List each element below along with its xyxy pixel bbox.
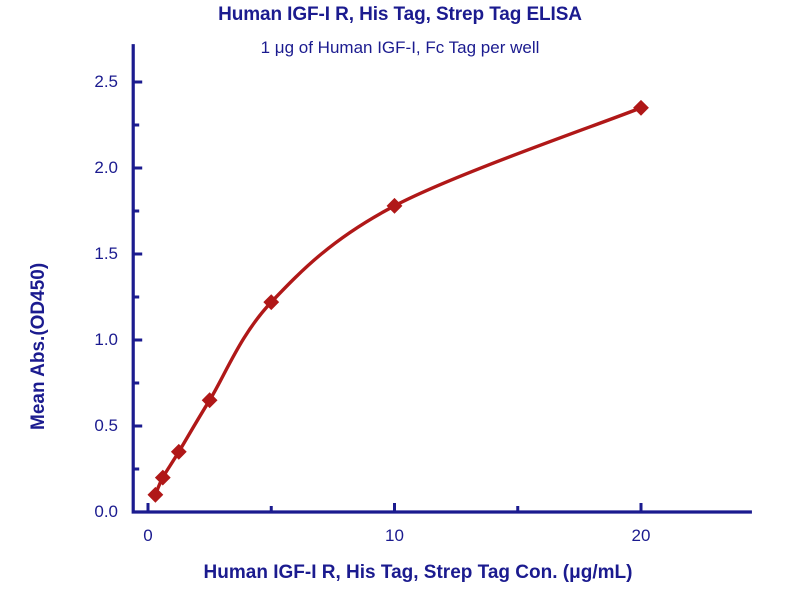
chart-title: Human IGF-I R, His Tag, Strep Tag ELISA [0,4,800,26]
series-line [155,108,641,495]
data-point-marker [148,488,162,502]
x-tick-label: 20 [632,526,651,546]
tick-marks-layer [133,82,641,512]
y-tick-label: 0.5 [62,416,118,436]
plot-area [0,0,800,600]
y-tick-label: 2.0 [62,158,118,178]
chart-figure: Human IGF-I R, His Tag, Strep Tag ELISA … [0,0,800,600]
data-point-marker [634,101,648,115]
y-tick-label: 1.0 [62,330,118,350]
y-axis-title: Mean Abs.(OD450) [28,263,50,430]
y-tick-label: 2.5 [62,72,118,92]
data-point-marker [156,470,170,484]
data-point-marker [387,199,401,213]
y-tick-label: 0.0 [62,502,118,522]
y-tick-label: 1.5 [62,244,118,264]
x-axis-title: Human IGF-I R, His Tag, Strep Tag Con. (… [18,562,800,584]
x-tick-label: 0 [143,526,152,546]
chart-subtitle: 1 μg of Human IGF-I, Fc Tag per well [0,38,800,58]
x-tick-label: 10 [385,526,404,546]
axis-spines [133,44,752,512]
axes-layer [133,44,752,512]
data-series-layer [148,101,648,502]
